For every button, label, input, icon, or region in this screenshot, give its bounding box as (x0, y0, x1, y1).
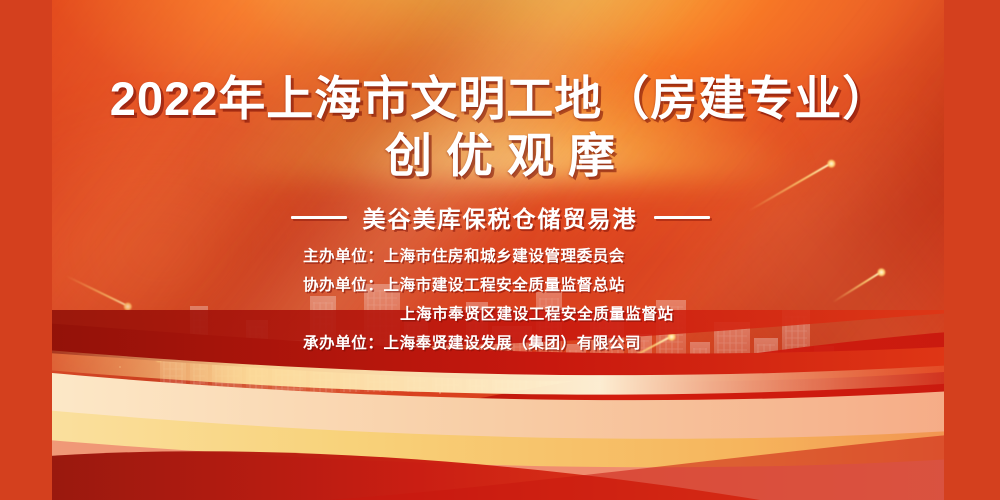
subtitle-rule-right (654, 216, 710, 219)
subtitle-text: 美谷美库保税仓储贸易港 (363, 200, 638, 234)
page-title-line-1: 2022年上海市文明工地（房建专业） (0, 70, 1000, 128)
page-title-line-2: 创优观摩 (0, 128, 1000, 184)
banner-poster: 2022年上海市文明工地（房建专业） 创优观摩 美谷美库保税仓储贸易港 主办单位… (0, 0, 1000, 500)
subtitle-block: 美谷美库保税仓储贸易港 (0, 200, 1000, 234)
organizer-line: 上海市奉贤区建设工程安全质量监督站 (303, 300, 674, 329)
organizer-line: 主办单位：上海市住房和城乡建设管理委员会 (303, 242, 674, 271)
organizer-line: 承办单位：上海奉贤建设发展（集团）有限公司 (303, 329, 674, 358)
organizer-list: 主办单位：上海市住房和城乡建设管理委员会 协办单位：上海市建设工程安全质量监督总… (303, 242, 674, 358)
subtitle-rule-left (291, 216, 347, 219)
organizer-line: 协办单位：上海市建设工程安全质量监督总站 (303, 271, 674, 300)
banner-content: 2022年上海市文明工地（房建专业） 创优观摩 美谷美库保税仓储贸易港 主办单位… (0, 0, 1000, 500)
title-block: 2022年上海市文明工地（房建专业） 创优观摩 (0, 70, 1000, 184)
